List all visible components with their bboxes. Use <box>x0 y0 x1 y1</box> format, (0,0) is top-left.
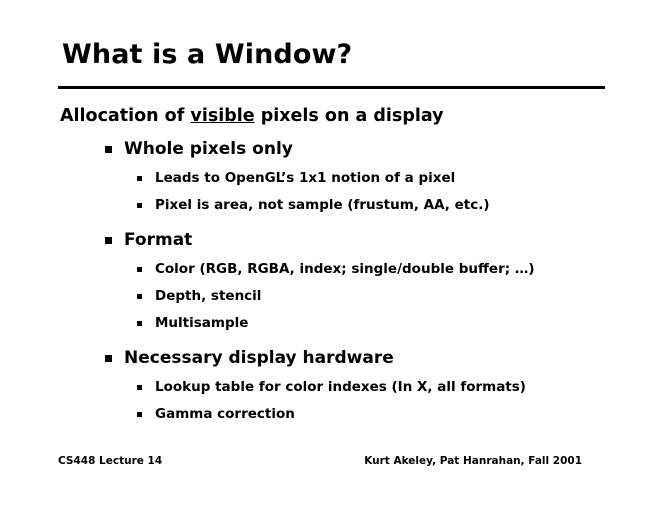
level3-label: Lookup table for color indexes (In X, al… <box>137 374 526 401</box>
level2-label: Format <box>105 225 192 256</box>
page-title: What is a Window? <box>62 41 352 68</box>
bullet-level3: Pixel is area, not sample (frustum, AA, … <box>137 192 660 219</box>
level1-emphasis: visible <box>190 106 254 126</box>
level1-suffix: pixels on a display <box>255 106 444 126</box>
level3-label: Leads to OpenGL’s 1x1 notion of a pixel <box>137 165 455 192</box>
bullet-level3: Multisample <box>137 310 660 337</box>
footer-course-label: CS448 Lecture 14 <box>58 455 162 467</box>
bullet-level3: Gamma correction <box>137 401 660 428</box>
square-bullet-icon <box>137 385 142 390</box>
title-divider <box>58 86 605 89</box>
bullet-level2: Whole pixels only <box>105 134 660 165</box>
level3-label: Multisample <box>137 310 248 337</box>
level3-label: Pixel is area, not sample (frustum, AA, … <box>137 192 490 219</box>
square-bullet-icon <box>137 267 142 272</box>
level3-label: Gamma correction <box>137 401 295 428</box>
square-bullet-icon <box>137 412 142 417</box>
square-bullet-icon <box>105 355 112 362</box>
slide-footer: CS448 Lecture 14 Kurt Akeley, Pat Hanrah… <box>0 455 660 473</box>
bullet-level3: Color (RGB, RGBA, index; single/double b… <box>137 256 660 283</box>
slide-body: Allocation of visible pixels on a displa… <box>0 104 660 428</box>
level1-prefix: Allocation of <box>60 106 190 126</box>
level3-label: Color (RGB, RGBA, index; single/double b… <box>137 256 535 283</box>
square-bullet-icon <box>137 321 142 326</box>
bullet-level3: Leads to OpenGL’s 1x1 notion of a pixel <box>137 165 660 192</box>
level3-label: Depth, stencil <box>137 283 261 310</box>
square-bullet-icon <box>137 203 142 208</box>
footer-authors-label: Kurt Akeley, Pat Hanrahan, Fall 2001 <box>364 455 582 467</box>
square-bullet-icon <box>137 294 142 299</box>
slide: What is a Window? Allocation of visible … <box>0 0 660 510</box>
bullet-level2: Format <box>105 225 660 256</box>
square-bullet-icon <box>105 237 112 244</box>
level2-label: Whole pixels only <box>105 134 293 165</box>
square-bullet-icon <box>105 146 112 153</box>
square-bullet-icon <box>137 176 142 181</box>
bullet-level3: Depth, stencil <box>137 283 660 310</box>
bullet-level3: Lookup table for color indexes (In X, al… <box>137 374 660 401</box>
bullet-level1: Allocation of visible pixels on a displa… <box>60 104 660 129</box>
bullet-level2: Necessary display hardware <box>105 343 660 374</box>
level2-label: Necessary display hardware <box>105 343 394 374</box>
